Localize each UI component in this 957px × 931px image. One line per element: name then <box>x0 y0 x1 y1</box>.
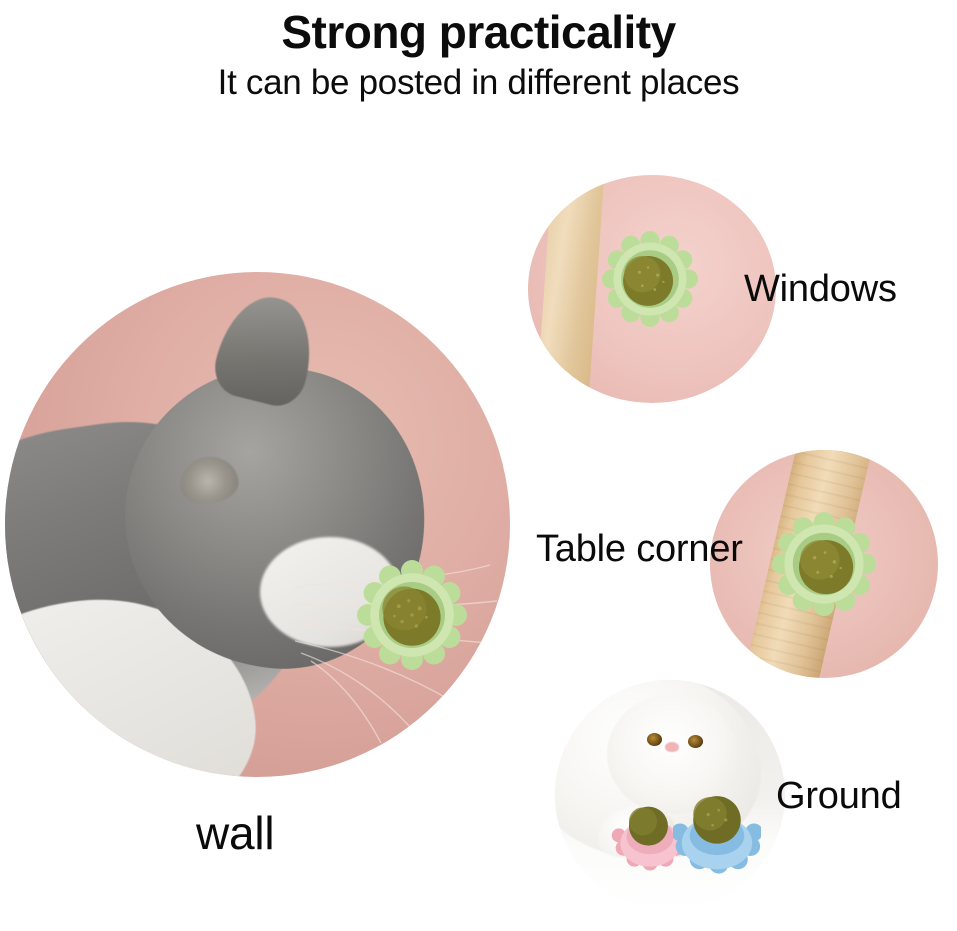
catnip-ball-toy-icon <box>673 790 761 878</box>
heading-block: Strong practicality It can be posted in … <box>0 0 957 102</box>
scene-photo-table-corner <box>710 450 938 678</box>
ground-scene <box>555 680 785 910</box>
cat-eye-left <box>647 733 662 746</box>
windows-scene <box>528 175 776 403</box>
wall-scene <box>5 272 510 777</box>
scene-label-wall: wall <box>196 806 274 860</box>
scene-label-table-corner: Table corner <box>536 528 743 571</box>
catnip-ball-toy-icon <box>772 512 876 616</box>
page-title: Strong practicality <box>0 0 957 58</box>
scene-photo-wall <box>5 272 510 777</box>
table-corner-scene <box>710 450 938 678</box>
catnip-ball-toy-icon <box>357 560 467 670</box>
scene-label-ground: Ground <box>776 775 902 818</box>
catnip-ball-toy-icon <box>602 231 698 327</box>
scene-photo-windows <box>528 175 776 403</box>
scene-photo-ground <box>555 680 785 910</box>
page-subtitle: It can be posted in different places <box>0 58 957 103</box>
scene-label-windows: Windows <box>744 268 897 311</box>
cat-eye-right <box>688 735 703 748</box>
cat-nose <box>665 742 679 752</box>
